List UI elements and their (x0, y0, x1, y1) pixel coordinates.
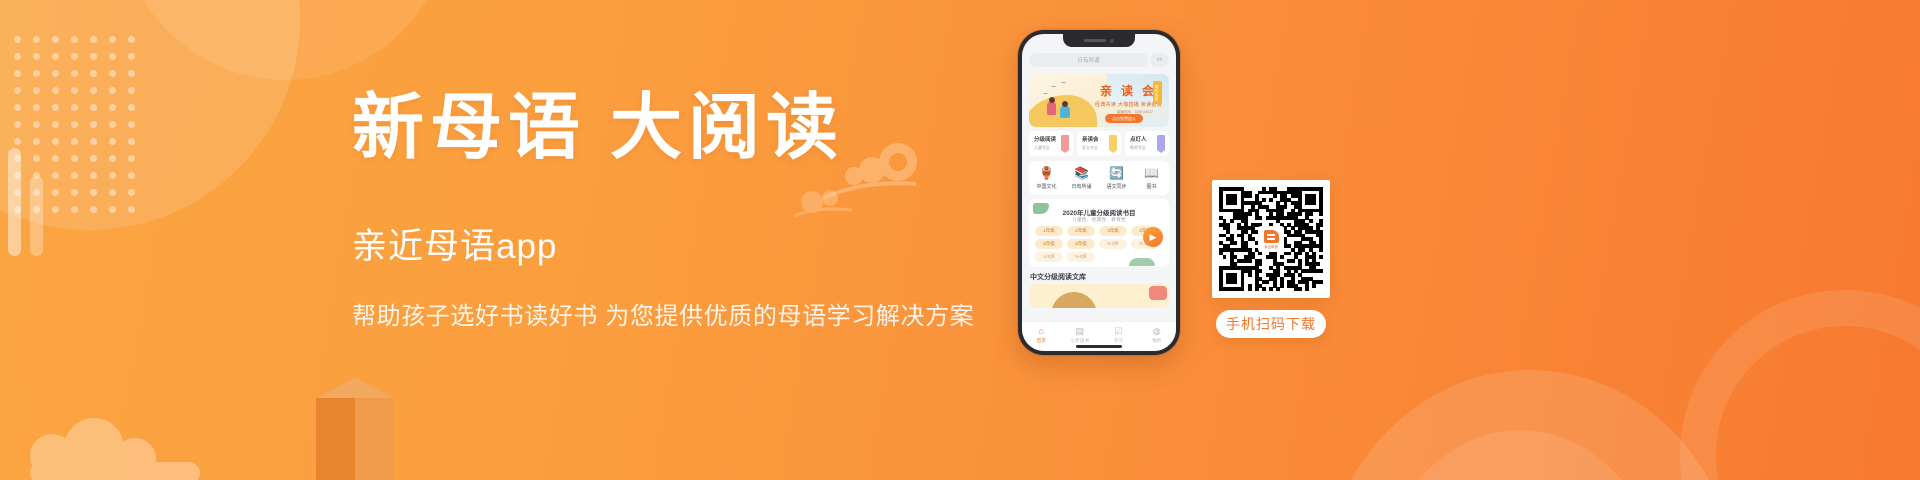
dot (52, 121, 59, 128)
dot (71, 36, 78, 43)
dot (71, 155, 78, 162)
dot (128, 36, 135, 43)
dot (52, 53, 59, 60)
dot (52, 87, 59, 94)
dot (52, 206, 59, 213)
entry-card-3[interactable]: 点灯人教师专区 (1125, 131, 1169, 156)
dot (33, 87, 40, 94)
decorative-arc-2 (1370, 430, 1670, 480)
dot (71, 87, 78, 94)
dot (90, 36, 97, 43)
dot (109, 138, 116, 145)
dot (71, 189, 78, 196)
dot (33, 155, 40, 162)
dot (14, 53, 21, 60)
qr-code-card: 亲近母语 (1212, 180, 1330, 298)
grade-chip[interactable]: 5年级 (1035, 239, 1063, 249)
home-indicator (1076, 345, 1122, 348)
decorative-arc-1 (1320, 370, 1740, 480)
dot (14, 138, 21, 145)
quick-icon-label: 中国文化 (1031, 183, 1063, 190)
nav-label: 首页 (1024, 338, 1058, 344)
bird-icon (1043, 93, 1048, 95)
checklist-icon: ☑ (1101, 326, 1135, 337)
dot (52, 70, 59, 77)
hero-copy: 新母语 大阅读 亲近母语app 帮助孩子选好书读好书 为您提供优质的母语学习解决… (352, 92, 1052, 331)
decorative-ring-bottom-right (1680, 290, 1920, 480)
dot (33, 206, 40, 213)
dot (90, 87, 97, 94)
dot (90, 206, 97, 213)
dot (71, 138, 78, 145)
quick-icon-item[interactable]: 🔄语文同步 (1101, 166, 1133, 190)
dot (71, 70, 78, 77)
dot (14, 87, 21, 94)
dot (128, 121, 135, 128)
dot (109, 206, 116, 213)
decorative-circle-top-left-2 (120, 0, 450, 80)
dot (14, 70, 21, 77)
dot (71, 104, 78, 111)
dot (109, 70, 116, 77)
dot (109, 87, 116, 94)
phone-notch (1063, 34, 1135, 47)
phone-mockup: 日有所诵 ⌕⌕ 亲 读 会 经典共读 大咖直播 亲读者说 直播时间：5月6-5月… (1018, 30, 1180, 355)
hero-tagline: 帮助孩子选好书读好书 为您提供优质的母语学习解决方案 (352, 296, 1052, 331)
ribbon-icon (1061, 135, 1069, 150)
age-chip[interactable]: 0-3岁 (1099, 239, 1127, 249)
search-icon[interactable]: ⌕⌕ (1150, 53, 1169, 67)
dot (14, 206, 21, 213)
ribbon-icon (1109, 135, 1117, 150)
entry-card-1[interactable]: 分级阅读儿童专区 (1029, 131, 1073, 156)
dot (109, 189, 116, 196)
child-head-1 (1049, 97, 1055, 103)
dot (14, 172, 21, 179)
search-placeholder: 日有所诵 (1077, 56, 1099, 64)
dot (33, 70, 40, 77)
nav-label: 学习 (1101, 338, 1135, 344)
entry-card-list: 分级阅读儿童专区亲读会家长专区点灯人教师专区 (1029, 131, 1169, 156)
sync-icon: 🔄 (1101, 166, 1133, 181)
dot (90, 104, 97, 111)
nav-item-学习[interactable]: ☑学习 (1101, 326, 1135, 344)
decorative-bar-1 (8, 148, 21, 256)
decorative-cube (300, 378, 410, 480)
grade-chip[interactable]: 1年级 (1035, 226, 1063, 236)
quick-icon-item[interactable]: 🏺中国文化 (1031, 166, 1063, 190)
dot (71, 121, 78, 128)
dot (109, 36, 116, 43)
video-play-icon[interactable]: ▶ (1143, 227, 1163, 247)
vase-icon: 🏺 (1031, 166, 1063, 181)
ribbon-icon (1157, 135, 1165, 150)
promo-flag-badge: 限时免费 (1153, 81, 1162, 104)
nav-item-我的[interactable]: ◍我的 (1140, 326, 1174, 344)
page-title: 新母语 大阅读 (352, 92, 1052, 164)
brand-mark-icon (1264, 230, 1279, 243)
dot (128, 70, 135, 77)
dot (128, 53, 135, 60)
decorative-circle-top-left (0, 0, 300, 230)
dot (109, 121, 116, 128)
promo-card[interactable]: 亲 读 会 经典共读 大咖直播 亲读者说 直播时间：5月6-5月27 点击免费加… (1029, 74, 1169, 127)
dot (14, 155, 21, 162)
book-stack-icon: 📚 (1066, 166, 1098, 181)
booklist-subtitle: 儿童性、经典性、教育性 (1029, 217, 1169, 223)
qr-center-logo: 亲近母语 (1258, 226, 1284, 252)
dot (52, 189, 59, 196)
promo-title: 亲 读 会 (1100, 82, 1157, 99)
user-icon: ◍ (1140, 326, 1174, 337)
grade-chip[interactable]: 3年级 (1099, 226, 1127, 236)
dot (33, 172, 40, 179)
nav-label: 我的 (1140, 338, 1174, 344)
library-card[interactable] (1029, 284, 1169, 308)
dot (52, 36, 59, 43)
dot (33, 53, 40, 60)
bird-icon (1051, 86, 1056, 88)
dot (128, 87, 135, 94)
decorative-cloud-bottom-left (30, 400, 200, 480)
dot (128, 138, 135, 145)
booklist-title: 2020年儿童分级阅读书目 (1029, 207, 1169, 217)
dot (52, 155, 59, 162)
dot (33, 189, 40, 196)
quick-icon-label: 图书 (1136, 183, 1168, 190)
nav-item-首页[interactable]: ⌂首页 (1024, 326, 1058, 344)
dot (33, 138, 40, 145)
booklist-card[interactable]: 2020年儿童分级阅读书目 儿童性、经典性、教育性 1年级2年级3年级4年级5年… (1029, 199, 1169, 267)
library-section-title: 中文分级阅读文库 (1030, 272, 1086, 282)
dot (71, 53, 78, 60)
qr-code-image: 亲近母语 (1219, 187, 1323, 291)
dot (109, 172, 116, 179)
age-chip[interactable]: 5-6岁 (1067, 252, 1095, 262)
download-button[interactable]: 手机扫码下载 (1216, 310, 1326, 338)
dot (14, 121, 21, 128)
dot (109, 53, 116, 60)
dot (128, 104, 135, 111)
app-name: 亲近母语app (352, 218, 1052, 269)
library-art-1 (1051, 292, 1097, 308)
dot (128, 172, 135, 179)
dot (128, 189, 135, 196)
dot (33, 121, 40, 128)
dot (109, 155, 116, 162)
decorative-dot-grid (14, 36, 164, 226)
promo-tags: 经典共读 大咖直播 亲读者说 (1095, 101, 1162, 108)
dot (128, 206, 135, 213)
quick-icon-item[interactable]: 📚日有所诵 (1066, 166, 1098, 190)
dot (71, 206, 78, 213)
dot (33, 104, 40, 111)
quick-icon-item[interactable]: 📖图书 (1136, 166, 1168, 190)
dot (128, 155, 135, 162)
dot (90, 189, 97, 196)
quick-icon-label: 日有所诵 (1066, 183, 1098, 190)
camera-icon (1110, 39, 1114, 43)
dot (90, 138, 97, 145)
dot (14, 104, 21, 111)
search-input[interactable]: 日有所诵 (1029, 53, 1148, 67)
bird-icon (1061, 82, 1066, 84)
dot (90, 121, 97, 128)
promo-banner: 新母语 大阅读 亲近母语app 帮助孩子选好书读好书 为您提供优质的母语学习解决… (0, 0, 1920, 480)
entry-card-2[interactable]: 亲读会家长专区 (1077, 131, 1121, 156)
dot (52, 172, 59, 179)
dot (52, 104, 59, 111)
quick-icon-row: 🏺中国文化📚日有所诵🔄语文同步📖图书 (1029, 161, 1169, 195)
dot (33, 36, 40, 43)
decorative-bar-2 (30, 176, 43, 256)
nav-label: 小步读书 (1063, 338, 1097, 344)
dot (109, 104, 116, 111)
grade-chip[interactable]: 2年级 (1067, 226, 1095, 236)
promo-join-button[interactable]: 点击免费加入 (1105, 114, 1143, 123)
grade-chip[interactable]: 6年级 (1067, 239, 1095, 249)
dot (71, 172, 78, 179)
age-chip[interactable]: 4-5岁 (1035, 252, 1063, 262)
book-icon: 📖 (1136, 166, 1168, 181)
dot (14, 189, 21, 196)
phone-screen: 日有所诵 ⌕⌕ 亲 读 会 经典共读 大咖直播 亲读者说 直播时间：5月6-5月… (1022, 34, 1176, 351)
quick-icon-label: 语文同步 (1101, 183, 1133, 190)
library-art-2 (1149, 286, 1167, 300)
dot (90, 53, 97, 60)
document-icon: ▤ (1063, 326, 1097, 337)
child-illustration-1 (1047, 101, 1056, 115)
nav-item-小步读书[interactable]: ▤小步读书 (1063, 326, 1097, 344)
dot (14, 36, 21, 43)
dot (90, 155, 97, 162)
qr-logo-text: 亲近母语 (1264, 244, 1278, 249)
dot (90, 172, 97, 179)
home-icon: ⌂ (1024, 326, 1058, 337)
dot (52, 138, 59, 145)
speaker-icon (1084, 39, 1106, 42)
dot (90, 70, 97, 77)
child-head-2 (1062, 101, 1068, 107)
